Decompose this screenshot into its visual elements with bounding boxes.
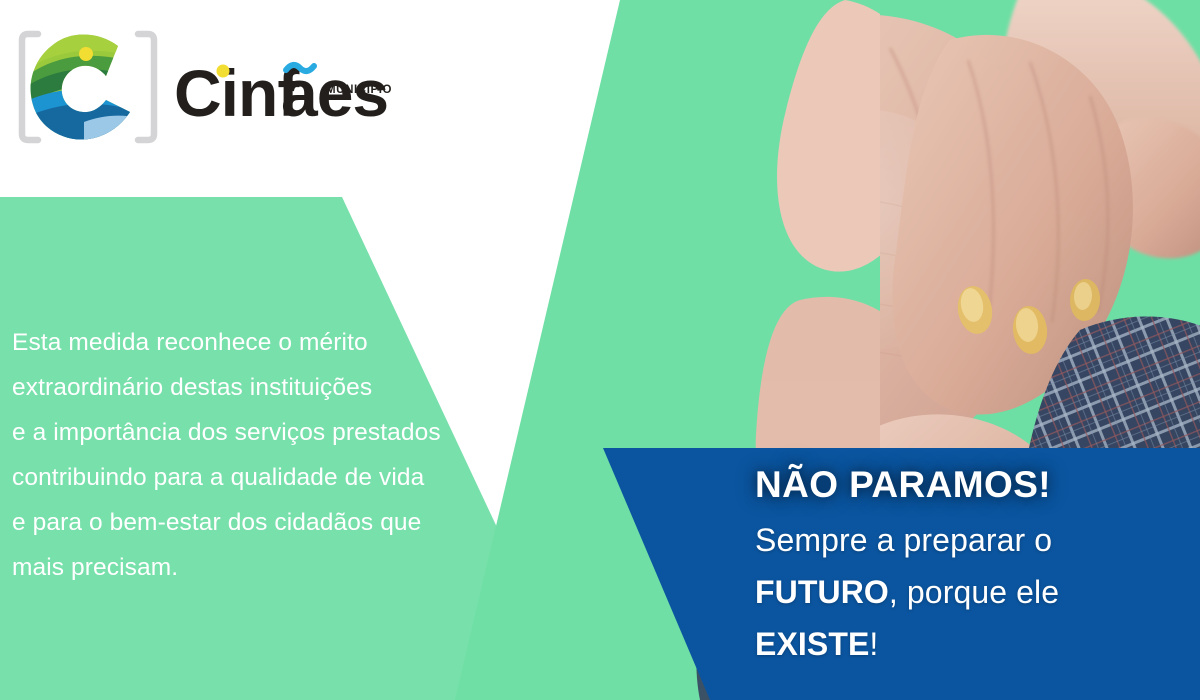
cinfaes-logo[interactable]: Cinf aes MUNICÍPIO xyxy=(14,26,394,148)
i-dot-icon xyxy=(217,65,230,78)
poster-canvas: NÃO PARAMOS! Sempre a preparar o FUTURO,… xyxy=(0,0,1200,700)
sun-dot-icon xyxy=(79,47,93,61)
banner-line-3: FUTURO, porque ele xyxy=(755,566,1185,618)
banner-line-2: Sempre a preparar o xyxy=(755,514,1185,566)
banner-existe-word: EXISTE xyxy=(755,626,869,662)
bracket-right xyxy=(138,34,154,140)
banner-line-3-rest: , porque ele xyxy=(889,574,1059,610)
banner-headline: NÃO PARAMOS! xyxy=(755,462,1185,508)
cinfaes-c-logo-icon xyxy=(14,26,162,148)
municipio-label: MUNICÍPIO xyxy=(326,84,392,96)
banner-line-4: EXISTE! xyxy=(755,618,1185,670)
left-paragraph: Esta medida reconhece o mérito extraordi… xyxy=(12,320,462,590)
banner-text-block: NÃO PARAMOS! Sempre a preparar o FUTURO,… xyxy=(755,462,1185,670)
banner-futuro-word: FUTURO xyxy=(755,574,889,610)
banner-line-4-rest: ! xyxy=(869,626,878,662)
